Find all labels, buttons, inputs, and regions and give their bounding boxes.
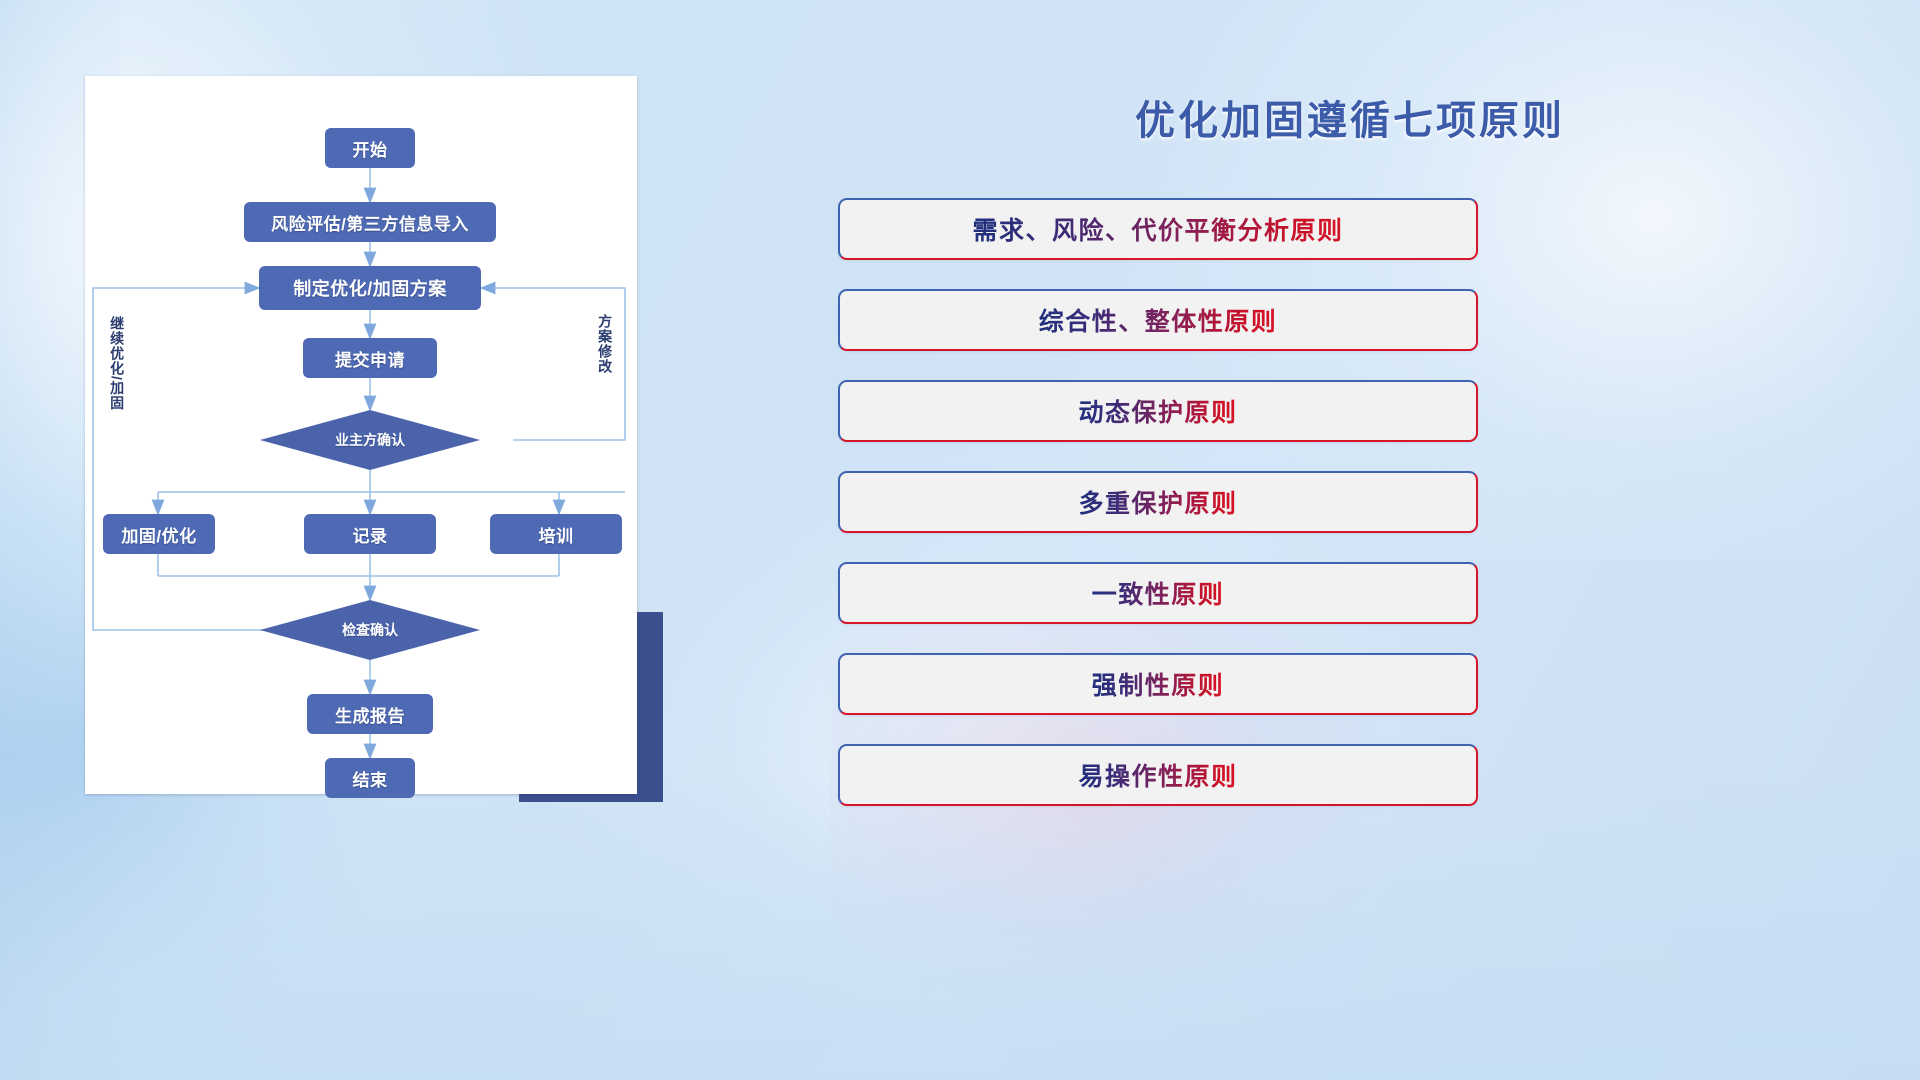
flow-edge-label-right-loop: 方案修改 [597,314,613,414]
flow-node-submit: 提交申请 [303,338,437,378]
principle-item-3-label: 动态保护原则 [1078,393,1237,429]
flow-node-plan: 制定优化/加固方案 [259,266,481,310]
flow-node-end-label: 结束 [353,766,388,791]
flow-node-plan-label: 制定优化/加固方案 [293,275,447,301]
principle-item-7-label: 易操作性原则 [1078,757,1237,793]
flow-node-start-label: 开始 [353,136,388,161]
principle-item-2[interactable]: 综合性、整体性原则 [838,289,1478,351]
principle-item-5-label: 一致性原则 [1092,575,1225,611]
flow-edge-label-left-loop: 继续优化/加固 [109,316,125,446]
flow-node-report: 生成报告 [307,694,433,734]
flowchart-card: 开始 风险评估/第三方信息导入 制定优化/加固方案 提交申请 业主方确认 加固/… [85,76,637,794]
flow-node-reinforce: 加固/优化 [103,514,215,554]
principles-panel: 优化加固遵循七项原则 需求、风险、代价平衡分析原则 综合性、整体性原则 动态保护… [820,60,1880,1020]
flow-node-record-label: 记录 [353,522,388,547]
principle-item-1[interactable]: 需求、风险、代价平衡分析原则 [838,198,1478,260]
principle-item-6[interactable]: 强制性原则 [838,653,1478,715]
flow-node-training-label: 培训 [539,522,574,547]
flow-node-risk-assessment: 风险评估/第三方信息导入 [244,202,496,242]
principle-item-4[interactable]: 多重保护原则 [838,471,1478,533]
principle-item-5[interactable]: 一致性原则 [838,562,1478,624]
flow-node-submit-label: 提交申请 [335,346,405,371]
flow-node-end: 结束 [325,758,415,798]
flow-node-check-confirm: 检查确认 [260,600,480,660]
flow-node-report-label: 生成报告 [335,702,405,727]
principle-item-7[interactable]: 易操作性原则 [838,744,1478,806]
principle-item-1-label: 需求、风险、代价平衡分析原则 [972,211,1343,247]
flow-node-owner-confirm: 业主方确认 [260,410,480,470]
principle-item-4-label: 多重保护原则 [1078,484,1237,520]
flow-node-record: 记录 [304,514,436,554]
principle-item-2-label: 综合性、整体性原则 [1039,302,1278,338]
principle-item-3[interactable]: 动态保护原则 [838,380,1478,442]
flow-node-owner-confirm-label: 业主方确认 [335,430,405,450]
flow-node-training: 培训 [490,514,622,554]
principle-item-6-label: 强制性原则 [1092,666,1225,702]
panel-title: 优化加固遵循七项原则 [940,88,1760,146]
flow-node-check-confirm-label: 检查确认 [342,620,398,640]
flow-node-reinforce-label: 加固/优化 [121,522,196,547]
flow-node-risk-assessment-label: 风险评估/第三方信息导入 [271,210,469,235]
flow-node-start: 开始 [325,128,415,168]
